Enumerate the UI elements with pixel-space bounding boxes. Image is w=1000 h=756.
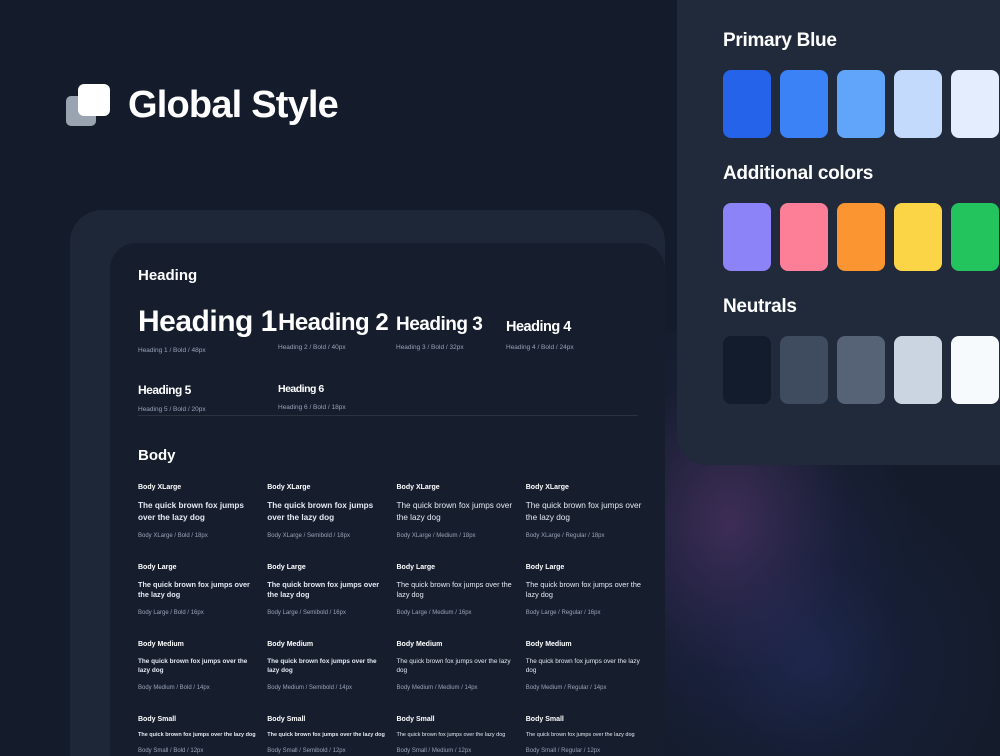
heading-sample-caption: Heading 4 / Bold / 24px xyxy=(506,344,574,351)
body-sample-label: Body XLarge xyxy=(526,484,648,491)
body-sample-caption: Body Large / Medium / 16px xyxy=(397,610,519,616)
palette-group-title: Neutrals xyxy=(723,296,1000,318)
body-sample-text: The quick brown fox jumps over the lazy … xyxy=(397,580,519,601)
body-sample-caption: Body Medium / Regular / 14px xyxy=(526,685,648,691)
body-sample-cell: Body XLargeThe quick brown fox jumps ove… xyxy=(397,484,519,539)
body-sample-text: The quick brown fox jumps over the lazy … xyxy=(138,580,260,601)
body-sample-caption: Body XLarge / Bold / 18px xyxy=(138,533,260,539)
body-sample-caption: Body Medium / Semibold / 14px xyxy=(267,685,389,691)
body-sample-cell: Body LargeThe quick brown fox jumps over… xyxy=(267,564,389,616)
heading-sample-2: Heading 2Heading 2 / Bold / 40px xyxy=(278,310,388,351)
design-system-canvas: Global Style Heading Heading 1Heading 1 … xyxy=(0,0,1000,756)
body-sample-cell: Body XLargeThe quick brown fox jumps ove… xyxy=(138,484,260,539)
heading-sample-caption: Heading 1 / Bold / 48px xyxy=(138,347,277,354)
body-sample-text: The quick brown fox jumps over the lazy … xyxy=(267,657,389,676)
heading-sample-text: Heading 3 xyxy=(396,315,482,335)
body-sample-text: The quick brown fox jumps over the lazy … xyxy=(526,500,648,524)
page-title: Global Style xyxy=(128,84,338,127)
body-sample-cell: Body MediumThe quick brown fox jumps ove… xyxy=(267,641,389,691)
color-swatch[interactable] xyxy=(780,203,828,271)
body-sample-label: Body Medium xyxy=(267,641,389,648)
heading-sample-text: Heading 2 xyxy=(278,310,388,335)
heading-sample-4: Heading 4Heading 4 / Bold / 24px xyxy=(506,320,574,351)
body-sample-text: The quick brown fox jumps over the lazy … xyxy=(397,657,519,676)
body-sample-cell: Body MediumThe quick brown fox jumps ove… xyxy=(526,641,648,691)
color-swatch[interactable] xyxy=(837,336,885,404)
body-sample-caption: Body Small / Medium / 12px xyxy=(397,748,519,754)
body-sample-caption: Body Small / Regular / 12px xyxy=(526,748,648,754)
body-sample-cell: Body SmallThe quick brown fox jumps over… xyxy=(526,716,648,755)
body-sample-label: Body Small xyxy=(526,716,648,723)
blue-glow-decoration xyxy=(660,430,1000,756)
body-sample-label: Body XLarge xyxy=(138,484,260,491)
body-sample-label: Body Small xyxy=(138,716,260,723)
body-sample-text: The quick brown fox jumps over the lazy … xyxy=(397,732,519,740)
body-sample-caption: Body Medium / Bold / 14px xyxy=(138,685,260,691)
overlapping-squares-logo-icon xyxy=(66,82,112,128)
heading-sample-5: Heading 5Heading 5 / Bold / 20px xyxy=(138,384,206,413)
color-swatch[interactable] xyxy=(894,336,942,404)
body-sample-text: The quick brown fox jumps over the lazy … xyxy=(526,732,648,740)
body-sample-cell: Body SmallThe quick brown fox jumps over… xyxy=(397,716,519,755)
body-sample-text: The quick brown fox jumps over the lazy … xyxy=(526,657,648,676)
body-sample-cell: Body XLargeThe quick brown fox jumps ove… xyxy=(526,484,648,539)
heading-section: Heading Heading 1Heading 1 / Bold / 48px… xyxy=(138,267,638,424)
palette-group-title: Primary Blue xyxy=(723,30,1000,52)
body-sample-caption: Body Small / Semibold / 12px xyxy=(267,748,389,754)
heading-sample-caption: Heading 6 / Bold / 18px xyxy=(278,404,346,411)
body-sample-label: Body Large xyxy=(526,564,648,571)
palette-group-title: Additional colors xyxy=(723,163,1000,185)
color-swatch[interactable] xyxy=(780,336,828,404)
color-swatch[interactable] xyxy=(723,203,771,271)
logo-square-front xyxy=(78,84,110,116)
body-sample-cell: Body SmallThe quick brown fox jumps over… xyxy=(267,716,389,755)
heading-sample-3: Heading 3Heading 3 / Bold / 32px xyxy=(396,315,482,351)
color-swatch[interactable] xyxy=(723,336,771,404)
palette-group: Neutrals xyxy=(723,296,1000,404)
heading-sample-6: Heading 6Heading 6 / Bold / 18px xyxy=(278,384,346,411)
color-swatch[interactable] xyxy=(723,70,771,138)
body-sample-caption: Body XLarge / Semibold / 18px xyxy=(267,533,389,539)
body-sample-label: Body Small xyxy=(267,716,389,723)
heading-section-title: Heading xyxy=(138,267,638,284)
body-sample-cell: Body LargeThe quick brown fox jumps over… xyxy=(526,564,648,616)
color-swatch[interactable] xyxy=(780,70,828,138)
body-sample-caption: Body Small / Bold / 12px xyxy=(138,748,260,754)
heading-sample-1: Heading 1Heading 1 / Bold / 48px xyxy=(138,306,277,354)
body-sample-caption: Body XLarge / Medium / 18px xyxy=(397,533,519,539)
body-sample-text: The quick brown fox jumps over the lazy … xyxy=(138,500,260,524)
body-sample-label: Body Large xyxy=(267,564,389,571)
heading-samples-grid: Heading 1Heading 1 / Bold / 48pxHeading … xyxy=(138,306,638,424)
color-swatch[interactable] xyxy=(894,203,942,271)
swatch-row xyxy=(723,70,1000,138)
body-sample-label: Body Small xyxy=(397,716,519,723)
body-sample-label: Body Medium xyxy=(526,641,648,648)
heading-sample-text: Heading 6 xyxy=(278,384,346,395)
color-swatch[interactable] xyxy=(837,70,885,138)
heading-sample-caption: Heading 5 / Bold / 20px xyxy=(138,406,206,413)
body-section-title: Body xyxy=(138,447,648,464)
color-swatch[interactable] xyxy=(837,203,885,271)
body-sample-text: The quick brown fox jumps over the lazy … xyxy=(138,732,260,740)
body-sample-text: The quick brown fox jumps over the lazy … xyxy=(267,500,389,524)
body-sample-cell: Body LargeThe quick brown fox jumps over… xyxy=(138,564,260,616)
page-header: Global Style xyxy=(66,82,338,128)
body-sample-label: Body Medium xyxy=(397,641,519,648)
body-sample-caption: Body XLarge / Regular / 18px xyxy=(526,533,648,539)
body-sample-label: Body Large xyxy=(138,564,260,571)
color-palette-panel: Primary BlueAdditional colorsNeutrals xyxy=(677,0,1000,465)
body-sample-label: Body XLarge xyxy=(267,484,389,491)
color-swatch[interactable] xyxy=(951,336,999,404)
body-sample-text: The quick brown fox jumps over the lazy … xyxy=(397,500,519,524)
section-divider xyxy=(138,415,638,416)
body-sample-text: The quick brown fox jumps over the lazy … xyxy=(267,580,389,601)
body-sample-caption: Body Medium / Medium / 14px xyxy=(397,685,519,691)
swatch-row xyxy=(723,336,1000,404)
heading-sample-text: Heading 1 xyxy=(138,306,277,338)
body-sample-cell: Body MediumThe quick brown fox jumps ove… xyxy=(397,641,519,691)
palette-group: Primary Blue xyxy=(723,30,1000,138)
color-swatch[interactable] xyxy=(894,70,942,138)
style-card-inner: Heading Heading 1Heading 1 / Bold / 48px… xyxy=(110,243,665,756)
body-sample-cell: Body XLargeThe quick brown fox jumps ove… xyxy=(267,484,389,539)
body-sample-label: Body XLarge xyxy=(397,484,519,491)
body-sample-text: The quick brown fox jumps over the lazy … xyxy=(138,657,260,676)
body-sample-caption: Body Large / Regular / 16px xyxy=(526,610,648,616)
body-section: Body Body XLargeThe quick brown fox jump… xyxy=(138,447,648,756)
heading-sample-text: Heading 4 xyxy=(506,320,574,335)
body-sample-cell: Body SmallThe quick brown fox jumps over… xyxy=(138,716,260,755)
body-sample-caption: Body Large / Semibold / 16px xyxy=(267,610,389,616)
color-swatch[interactable] xyxy=(951,203,999,271)
body-sample-cell: Body LargeThe quick brown fox jumps over… xyxy=(397,564,519,616)
body-samples-grid: Body XLargeThe quick brown fox jumps ove… xyxy=(138,484,648,756)
body-sample-label: Body Medium xyxy=(138,641,260,648)
heading-sample-text: Heading 5 xyxy=(138,384,206,397)
body-sample-text: The quick brown fox jumps over the lazy … xyxy=(526,580,648,601)
body-sample-text: The quick brown fox jumps over the lazy … xyxy=(267,732,389,740)
swatch-row xyxy=(723,203,1000,271)
heading-sample-caption: Heading 3 / Bold / 32px xyxy=(396,344,482,351)
palette-group: Additional colors xyxy=(723,163,1000,271)
color-swatch[interactable] xyxy=(951,70,999,138)
body-sample-label: Body Large xyxy=(397,564,519,571)
heading-sample-caption: Heading 2 / Bold / 40px xyxy=(278,344,388,351)
body-sample-caption: Body Large / Bold / 16px xyxy=(138,610,260,616)
body-sample-cell: Body MediumThe quick brown fox jumps ove… xyxy=(138,641,260,691)
